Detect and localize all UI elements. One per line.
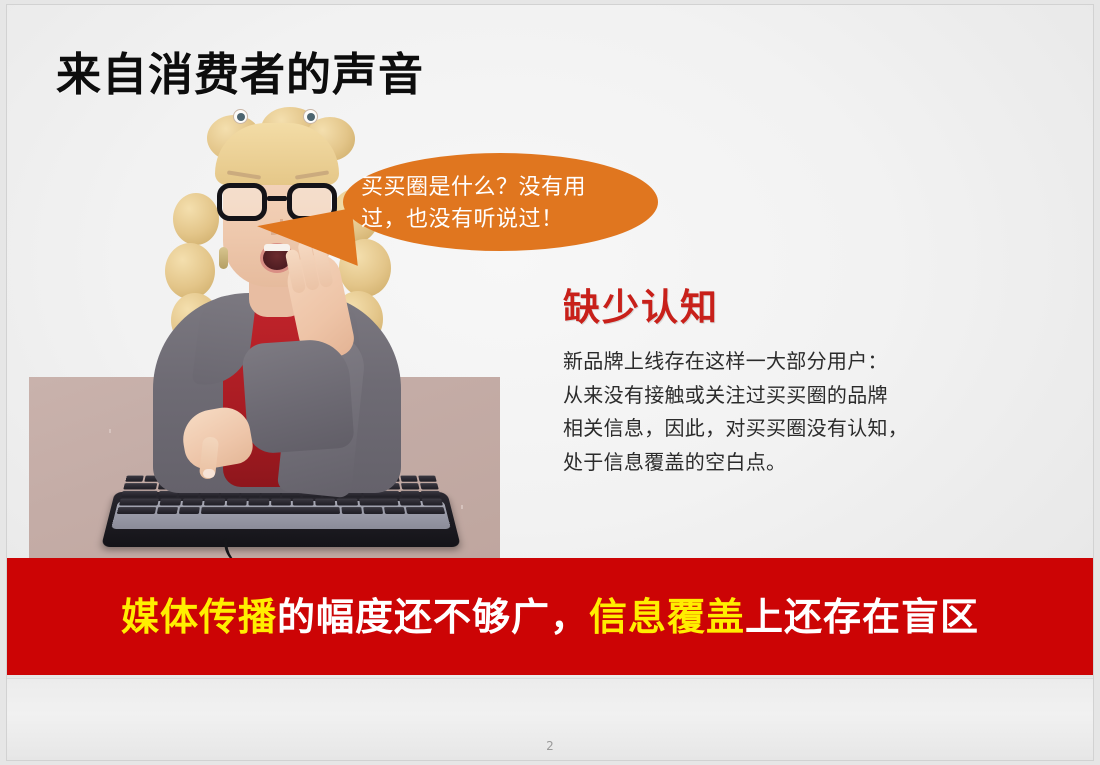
slide-canvas: 来自消费者的声音 (7, 5, 1093, 677)
banner-highlight-1: 媒体传播 (121, 595, 277, 639)
banner-highlight-2: 信息覆盖 (589, 595, 745, 639)
page-number: 2 (7, 739, 1093, 753)
photo-speck (461, 505, 463, 509)
body-paragraph: 新品牌上线存在这样一大部分用户： 从来没有接触或关注过买买圈的品牌 相关信息，因… (563, 345, 1013, 479)
section-heading: 缺少认知 (563, 277, 719, 331)
speech-bubble-tail (256, 208, 358, 276)
speech-bubble-line-1: 买买圈是什么？没有用 (361, 172, 643, 204)
body-line-1: 新品牌上线存在这样一大部分用户： (563, 345, 1013, 379)
page-title: 来自消费者的声音 (56, 51, 424, 99)
pupil-right (307, 113, 315, 121)
slide-footer: 2 (7, 678, 1093, 757)
body-line-4: 处于信息覆盖的空白点。 (563, 446, 1013, 480)
body-line-3: 相关信息，因此，对买买圈没有认知， (563, 412, 1013, 446)
conclusion-banner: 媒体传播的幅度还不够广，信息覆盖上还存在盲区 (7, 558, 1093, 675)
fingernail (203, 469, 215, 478)
speech-bubble-line-2: 过，也没有听说过！ (361, 204, 643, 236)
keyboard-key-row (117, 507, 445, 514)
speech-bubble-text: 买买圈是什么？没有用 过，也没有听说过！ (361, 172, 643, 236)
earring (219, 247, 228, 269)
slide-root: 来自消费者的声音 (0, 0, 1100, 765)
banner-plain-2: 上还存在盲区 (745, 595, 979, 639)
pupil-left (237, 113, 245, 121)
body-line-2: 从来没有接触或关注过买买圈的品牌 (563, 379, 1013, 413)
photo-speck (109, 429, 111, 433)
banner-plain-1: 的幅度还不够广， (277, 595, 589, 639)
arm-reaching-keyboard (241, 337, 354, 454)
keyboard-key-row (119, 499, 443, 506)
conclusion-banner-text: 媒体传播的幅度还不够广，信息覆盖上还存在盲区 (121, 598, 979, 636)
